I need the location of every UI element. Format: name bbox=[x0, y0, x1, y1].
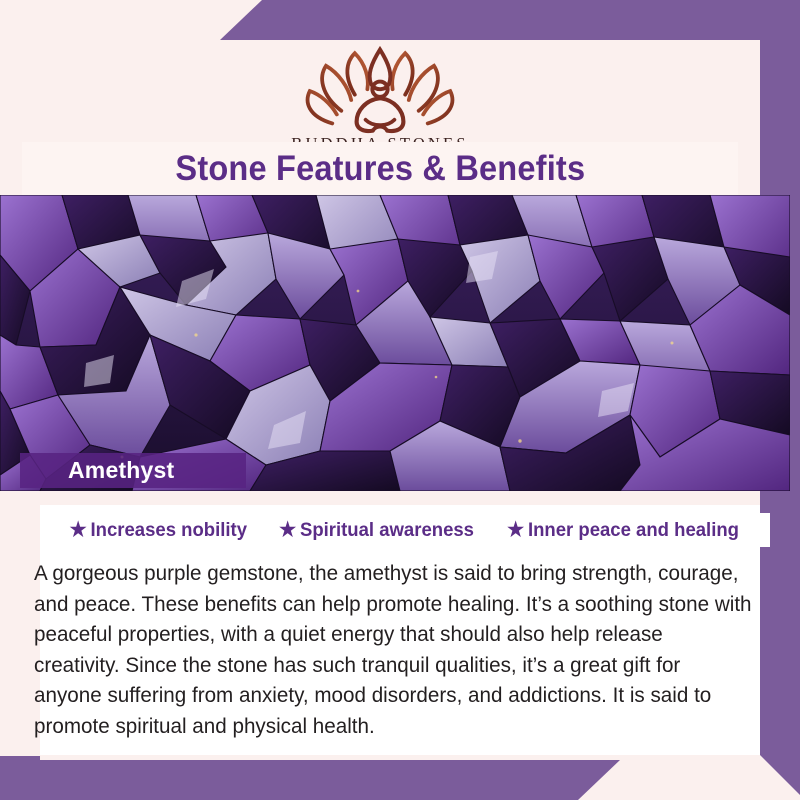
stone-name-text: Amethyst bbox=[68, 457, 174, 484]
star-icon: ★ bbox=[507, 520, 524, 540]
frame-band-bottom bbox=[0, 760, 620, 800]
stone-description-text: A gorgeous purple gemstone, the amethyst… bbox=[34, 558, 752, 741]
benefit-label: Inner peace and healing bbox=[528, 519, 739, 542]
stone-name-banner: Amethyst bbox=[20, 453, 246, 488]
page-title-bar: Stone Features & Benefits bbox=[22, 142, 738, 195]
infographic-page: BUDDHA STONES Stone Features & Benefits bbox=[0, 0, 800, 800]
benefit-item-3: ★ Inner peace and healing bbox=[507, 519, 739, 542]
benefit-item-2: ★ Spiritual awareness bbox=[279, 519, 474, 542]
page-title: Stone Features & Benefits bbox=[175, 149, 585, 189]
benefit-label: Spiritual awareness bbox=[300, 519, 474, 542]
amethyst-crystal-cluster-photo bbox=[0, 195, 790, 491]
frame-band-top bbox=[220, 0, 800, 40]
star-icon: ★ bbox=[279, 520, 296, 540]
lotus-meditation-icon bbox=[290, 44, 470, 138]
benefits-list: ★ Increases nobility ★ Spiritual awarene… bbox=[40, 513, 770, 547]
star-icon: ★ bbox=[70, 520, 87, 540]
benefit-item-1: ★ Increases nobility bbox=[70, 519, 247, 542]
benefit-label: Increases nobility bbox=[91, 519, 247, 542]
